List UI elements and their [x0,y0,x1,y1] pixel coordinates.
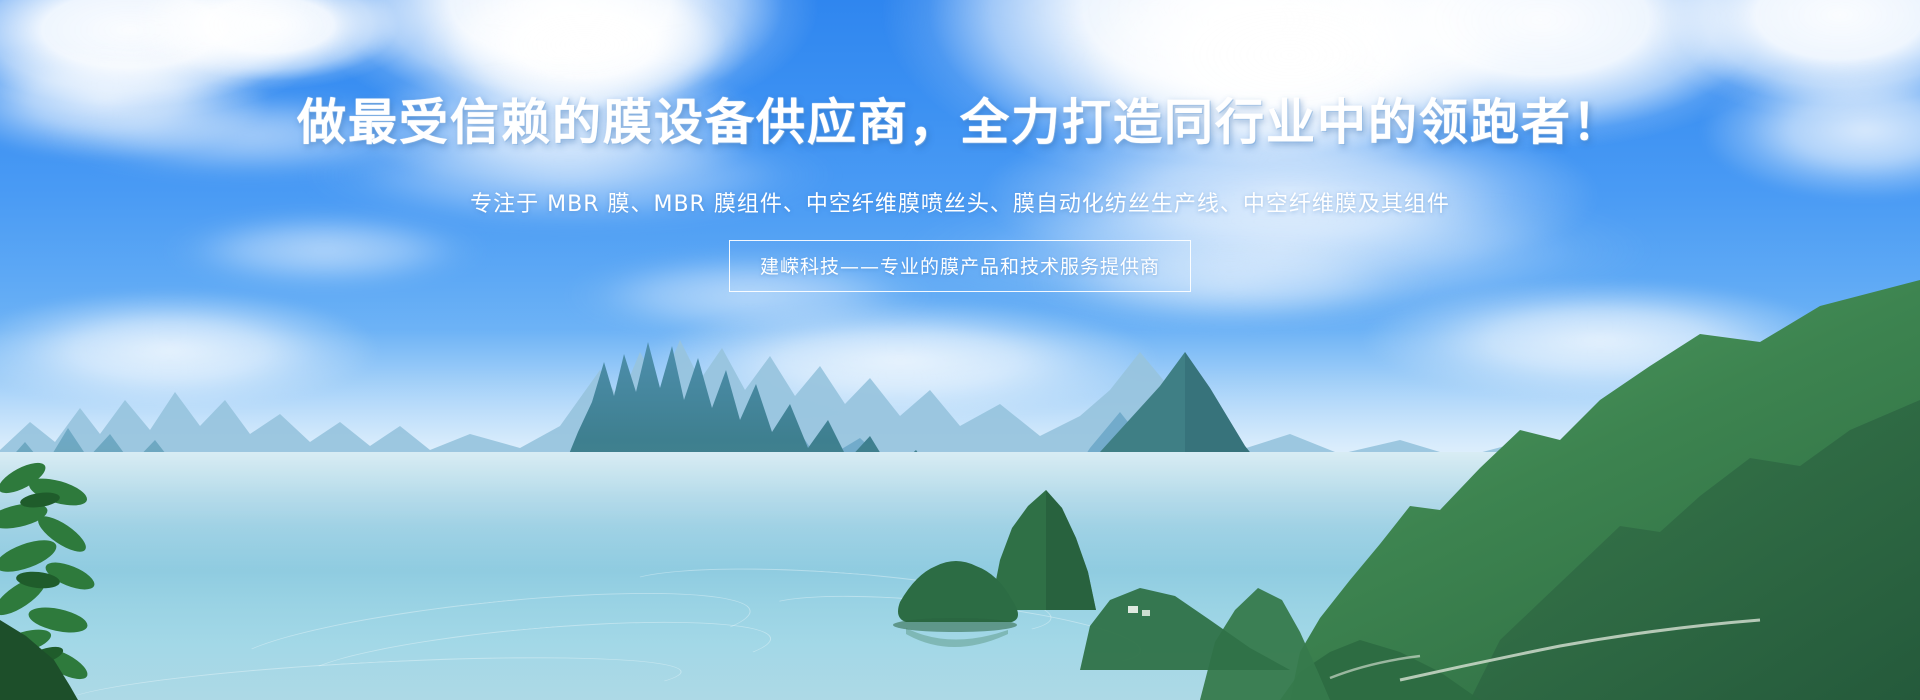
banner-tagline-box: 建嵘科技——专业的膜产品和技术服务提供商 [729,240,1191,292]
hero-banner: 做最受信赖的膜设备供应商，全力打造同行业中的领跑者！ 专注于 MBR 膜、MBR… [0,0,1920,700]
banner-tagline-wrapper: 建嵘科技——专业的膜产品和技术服务提供商 [0,240,1920,292]
foreground-foliage [0,430,1920,700]
banner-subheadline: 专注于 MBR 膜、MBR 膜组件、中空纤维膜喷丝头、膜自动化纺丝生产线、中空纤… [0,186,1920,218]
banner-headline: 做最受信赖的膜设备供应商，全力打造同行业中的领跑者！ [0,96,1920,150]
